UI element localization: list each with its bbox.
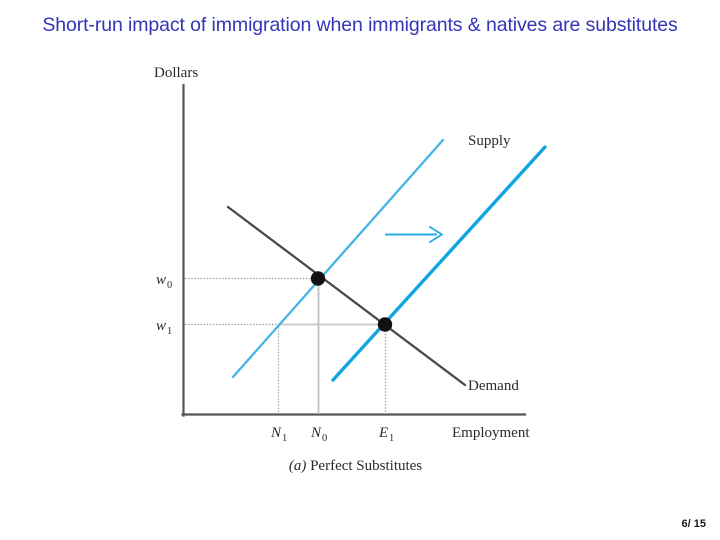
supply-shift-arrow <box>385 227 442 242</box>
demand-curve-label: Demand <box>468 378 519 394</box>
slide-canvas: Short-run impact of immigration when imm… <box>0 0 720 540</box>
supply-curve-shifted[interactable] <box>333 147 545 380</box>
x-tick-label-e1: E 1 <box>378 425 394 444</box>
y-tick-w0-subscript: 0 <box>167 280 172 291</box>
new-equilibrium-dot[interactable] <box>378 317 392 331</box>
supply-curve-original[interactable] <box>233 140 443 377</box>
x-tick-e1-subscript: 1 <box>389 433 394 444</box>
chart-guide-lines <box>185 278 386 414</box>
initial-equilibrium-dot[interactable] <box>311 271 325 285</box>
supply-demand-chart: Dollars Employment Supply Demand w 0 w 1… <box>0 55 720 505</box>
x-axis-label: Employment <box>452 425 530 441</box>
figure-caption-text: Perfect Substitutes <box>306 458 422 474</box>
x-tick-n0-subscript: 0 <box>322 433 327 444</box>
y-tick-w1-base: w <box>156 318 166 334</box>
page-title: Short-run impact of immigration when imm… <box>0 14 720 37</box>
chart-curves <box>228 140 545 385</box>
x-tick-n1-base: N <box>270 425 282 441</box>
y-tick-w0-base: w <box>156 272 166 288</box>
figure-caption: (a) Perfect Substitutes <box>183 458 528 475</box>
x-tick-label-n0: N 0 <box>310 425 327 444</box>
supply-curve-label: Supply <box>468 133 511 149</box>
equilibrium-points <box>311 271 392 331</box>
figure-caption-prefix: (a) <box>289 458 307 474</box>
y-tick-label-w0: w 0 <box>156 272 172 291</box>
x-tick-n1-subscript: 1 <box>282 433 287 444</box>
x-tick-n0-base: N <box>310 425 322 441</box>
y-axis-label: Dollars <box>154 65 198 81</box>
x-tick-e1-base: E <box>378 425 388 441</box>
y-tick-label-w1: w 1 <box>156 318 172 337</box>
page-number: 6/ 15 <box>682 518 706 530</box>
x-tick-label-n1: N 1 <box>270 425 287 444</box>
y-tick-w1-subscript: 1 <box>167 326 172 337</box>
chart-svg: Dollars Employment Supply Demand w 0 w 1… <box>0 55 720 505</box>
